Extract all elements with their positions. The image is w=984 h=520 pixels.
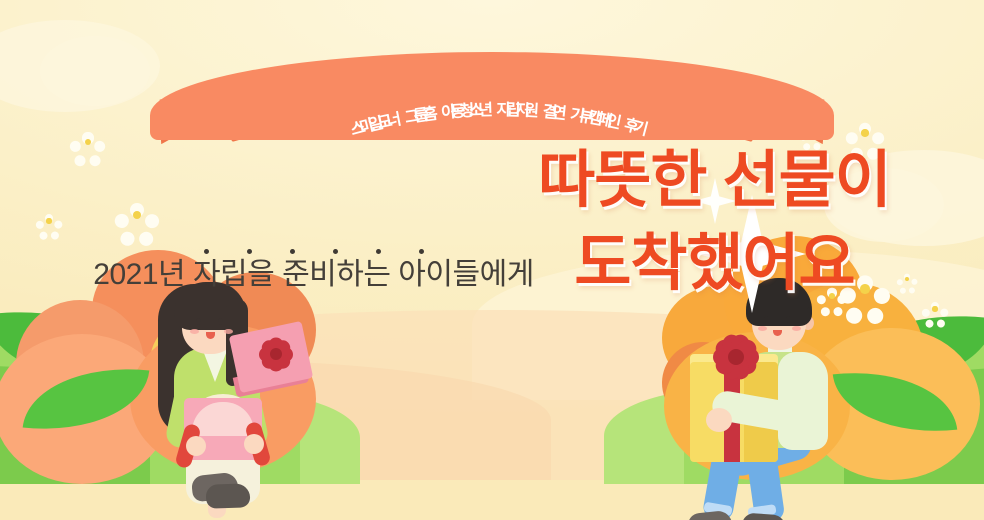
headline-line-1: 따뜻한 선물이 [538,146,890,217]
emphasis-dot [290,249,295,254]
emphasis-dots [93,249,534,254]
headline-block: 2021년 자립을 준비하는 아이들에게 따뜻한 선물이 도착했어요 [0,140,984,299]
woman-eye [196,318,201,325]
ribbon-text-arc: 스마일도너 그룹홈 아동청소년 자립지원 결연 기부캠페인 후기 [150,52,834,140]
emphasis-dot [204,249,209,254]
woman-cheek [224,329,233,334]
emphasis-dot [333,249,338,254]
ribbon-band: 스마일도너 그룹홈 아동청소년 자립지원 결연 기부캠페인 후기 [150,52,834,140]
daisy-icon [926,300,944,318]
boy-eye [764,316,769,323]
woman-hand [186,436,206,456]
ribbon-char [487,96,492,114]
woman-cheek [190,329,199,334]
headline: 따뜻한 선물이 도착했어요 [538,146,890,299]
boy-hand [706,408,732,432]
emphasis-dot [376,249,381,254]
subtitle-row: 2021년 자립을 준비하는 아이들에게 [93,258,534,293]
promo-banner: 스마일도너 그룹홈 아동청소년 자립지원 결연 기부캠페인 후기 2021년 자… [0,0,984,520]
emphasis-dot [419,249,424,254]
woman-shoe [206,483,251,509]
emphasis-dot [247,249,252,254]
pink-gift-bow [256,334,296,374]
yellow-gift-bow [710,334,762,380]
woman-hand [244,434,264,454]
illustration-woman-with-gift [134,274,314,504]
headline-line-2: 도착했어요 [538,229,890,300]
subtitle-text: 2021년 자립을 준비하는 아이들에게 [93,258,534,293]
boy-cheek [758,326,767,331]
boy-cheek [792,326,801,331]
woman-eye [218,318,223,325]
boy-eye [786,316,791,323]
